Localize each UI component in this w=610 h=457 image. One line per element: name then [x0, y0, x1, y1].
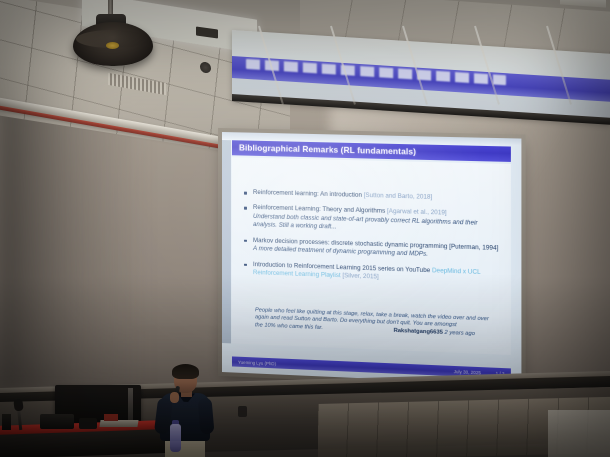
presenter-right-arm [197, 397, 214, 434]
wall-knob [238, 406, 247, 417]
room-door [548, 410, 610, 457]
footer-date: July 30, 2025 [276, 361, 496, 376]
quote-age: 2 years ago [445, 330, 475, 337]
list-item: Markov decision processes: discrete stoc… [244, 236, 500, 262]
presenter-hair [172, 364, 199, 379]
lecture-hall-photo: Bibliographical Remarks (RL fundamentals… [0, 0, 610, 457]
bullet-list: Reinforcement learning: An introduction … [244, 189, 500, 294]
footer-author: Yueming Lyu (PhD) [238, 359, 276, 366]
desk-red-object [104, 414, 118, 421]
desk-equipment [40, 414, 74, 429]
water-bottle [170, 424, 181, 452]
desk-body [0, 429, 169, 457]
ceiling-fan-hub [106, 42, 119, 49]
quote-spacer [325, 329, 393, 332]
desk-pen-cup [2, 414, 11, 430]
list-item: Introduction to Reinforcement Learning 2… [244, 261, 500, 287]
quote-line-3: the 10% who came this far. [255, 323, 323, 332]
quote-author: Rakshatgang6635 [394, 328, 443, 336]
bullet-note: Understand both classic and state-of-art… [253, 213, 500, 237]
desk-microphone [13, 398, 24, 411]
presentation-slide: Bibliographical Remarks (RL fundamentals… [222, 132, 521, 385]
desk-equipment [79, 418, 97, 429]
list-item: Reinforcement Learning: Theory and Algor… [244, 204, 500, 237]
desk-papers [99, 420, 138, 427]
bullet-citation: [Agarwal et al., 2019] [387, 208, 447, 217]
bullet-citation: [Silver, 2015] [342, 272, 378, 280]
slide-left-sidebar [222, 140, 231, 343]
bullet-citation: [Sutton and Barto, 2018] [364, 192, 433, 201]
presenter-hand [170, 392, 179, 403]
projection-screen: Bibliographical Remarks (RL fundamentals… [222, 132, 521, 385]
